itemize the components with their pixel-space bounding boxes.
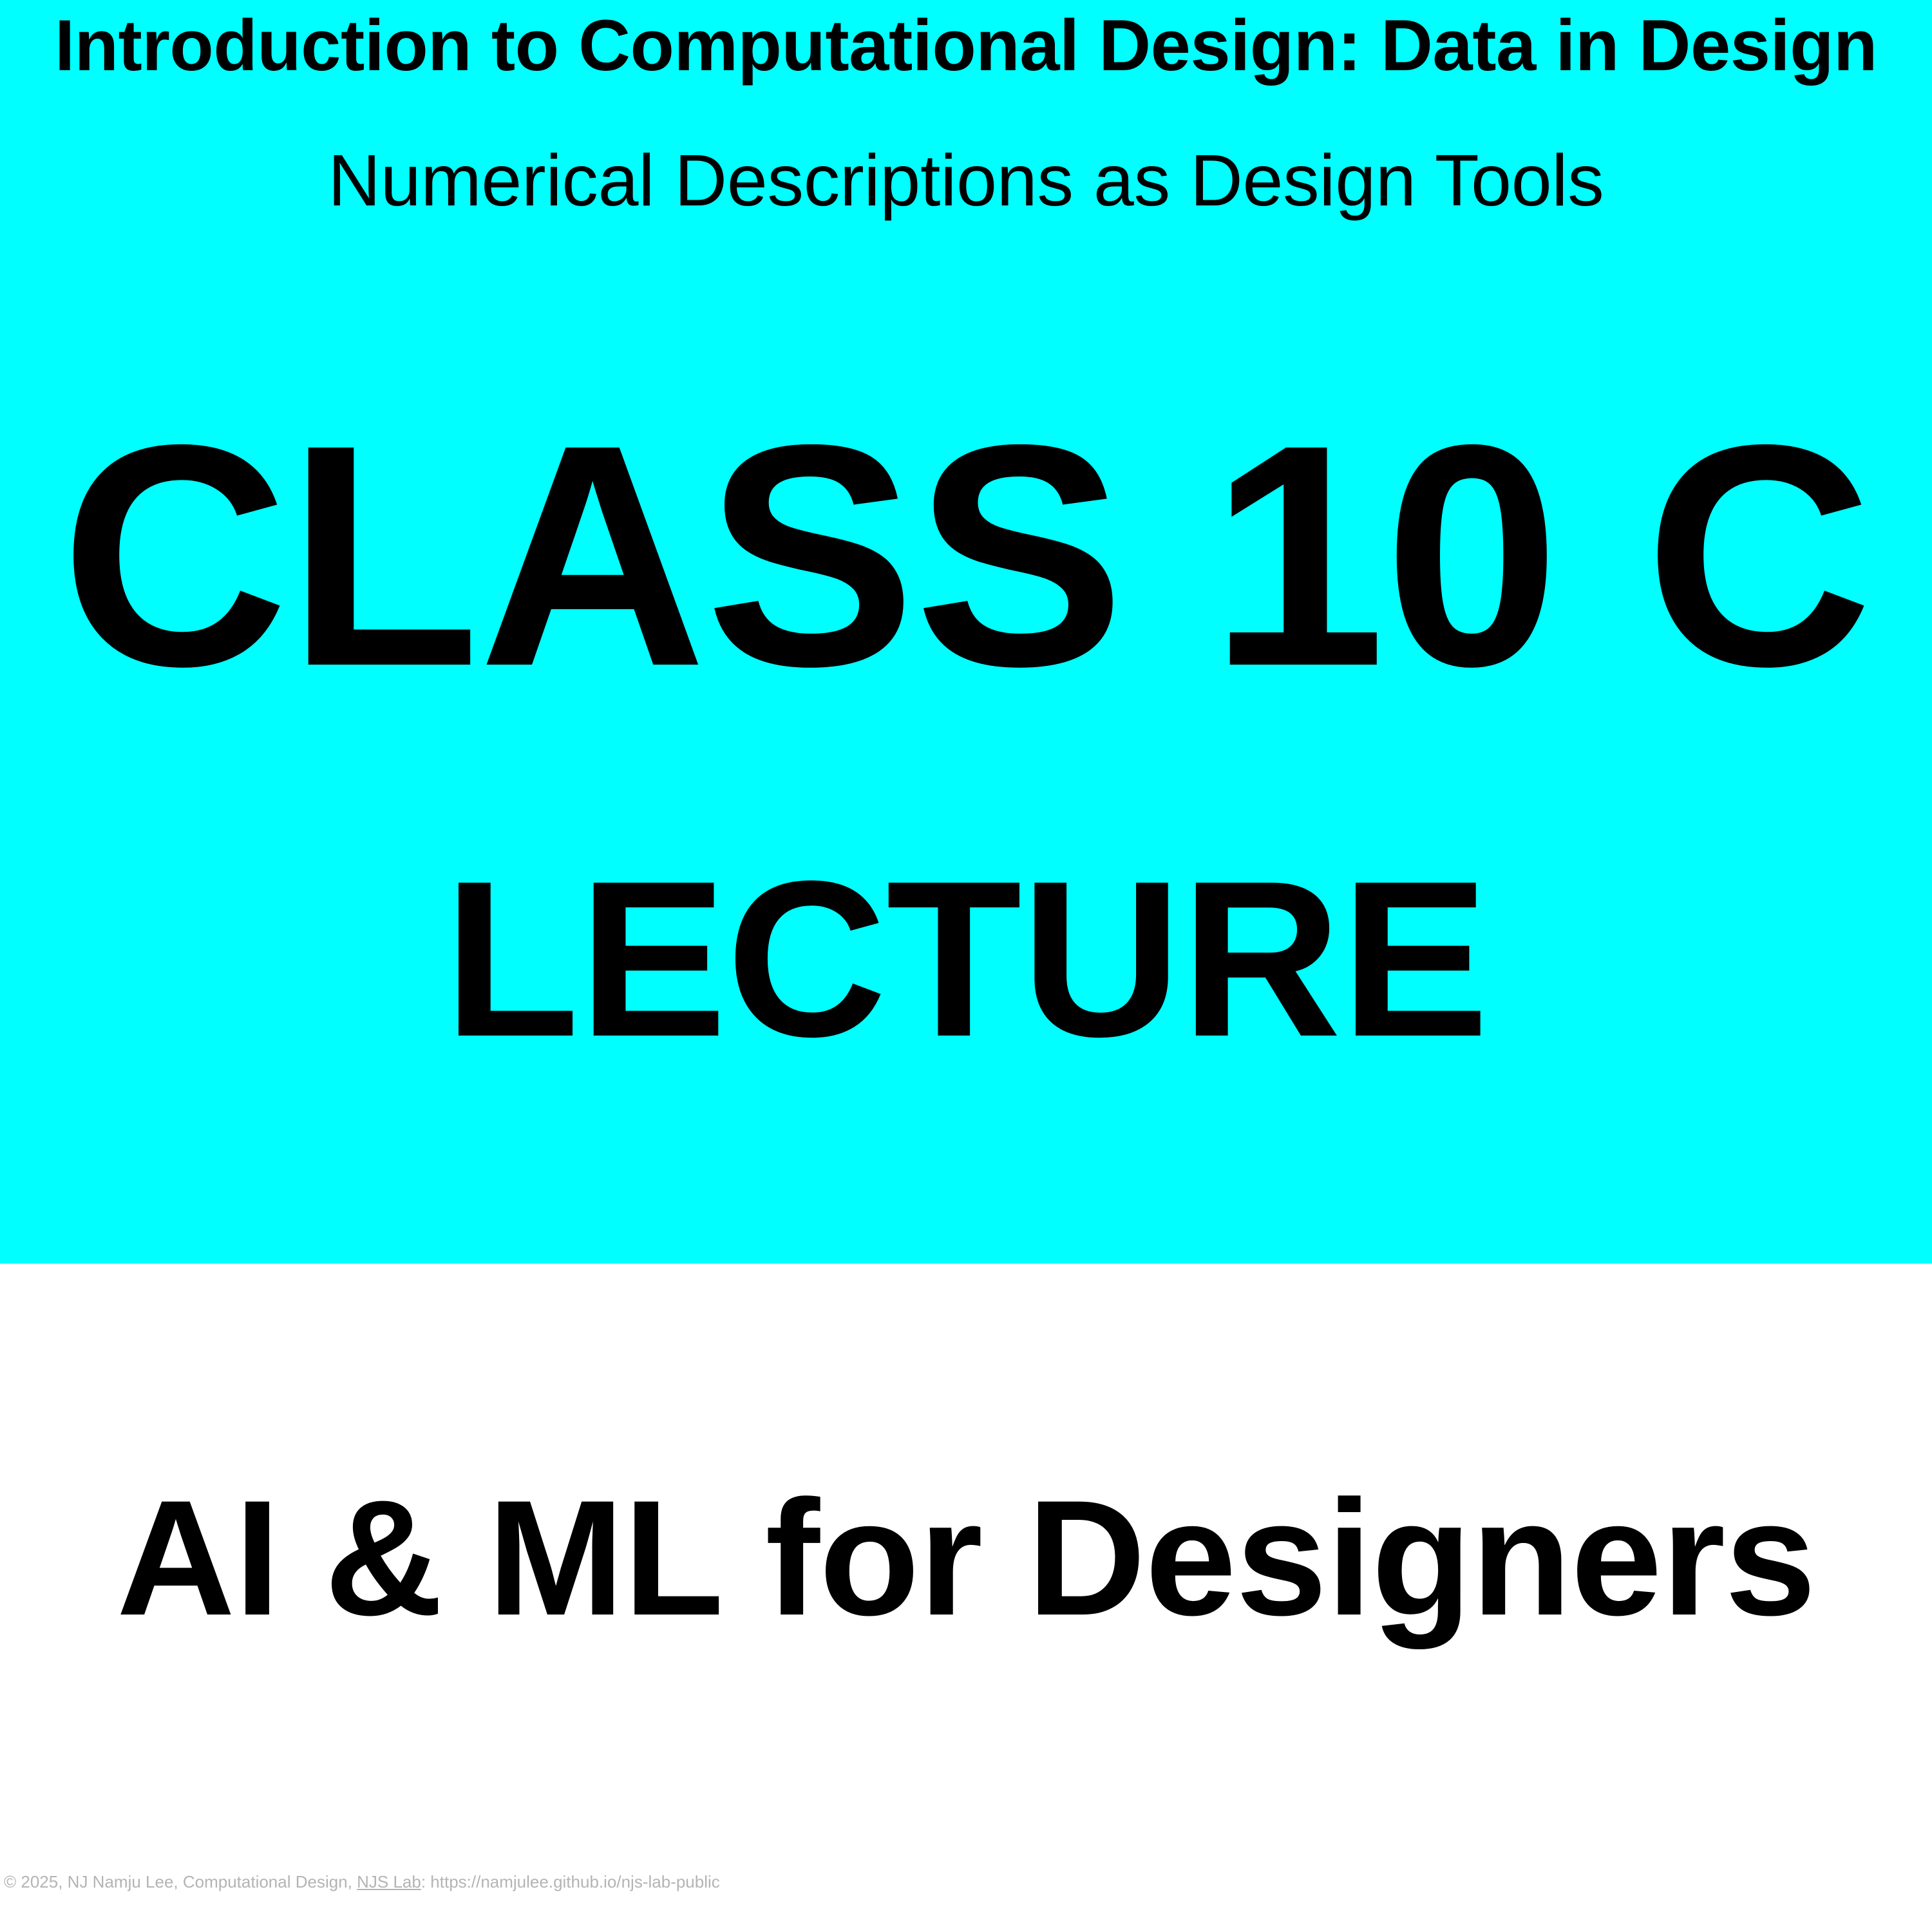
footer-copyright-text: © 2025, NJ Namju Lee, Computational Desi… (4, 1872, 357, 1891)
footer-url-text: : https://namjulee.github.io/njs-lab-pub… (421, 1872, 720, 1891)
course-title: Introduction to Computational Design: Da… (0, 5, 1932, 86)
lecture-type-label: LECTURE (0, 848, 1932, 1070)
footer-credit: © 2025, NJ Namju Lee, Computational Desi… (4, 1871, 720, 1893)
njs-lab-link[interactable]: NJS Lab (357, 1872, 421, 1891)
course-subtitle: Numerical Descriptions as Design Tools (0, 140, 1932, 222)
lecture-title-slide: Introduction to Computational Design: Da… (0, 0, 1932, 1932)
topic-headline: AI & ML for Designers (0, 1476, 1932, 1640)
class-number-label: CLASS 10 C (0, 397, 1932, 713)
